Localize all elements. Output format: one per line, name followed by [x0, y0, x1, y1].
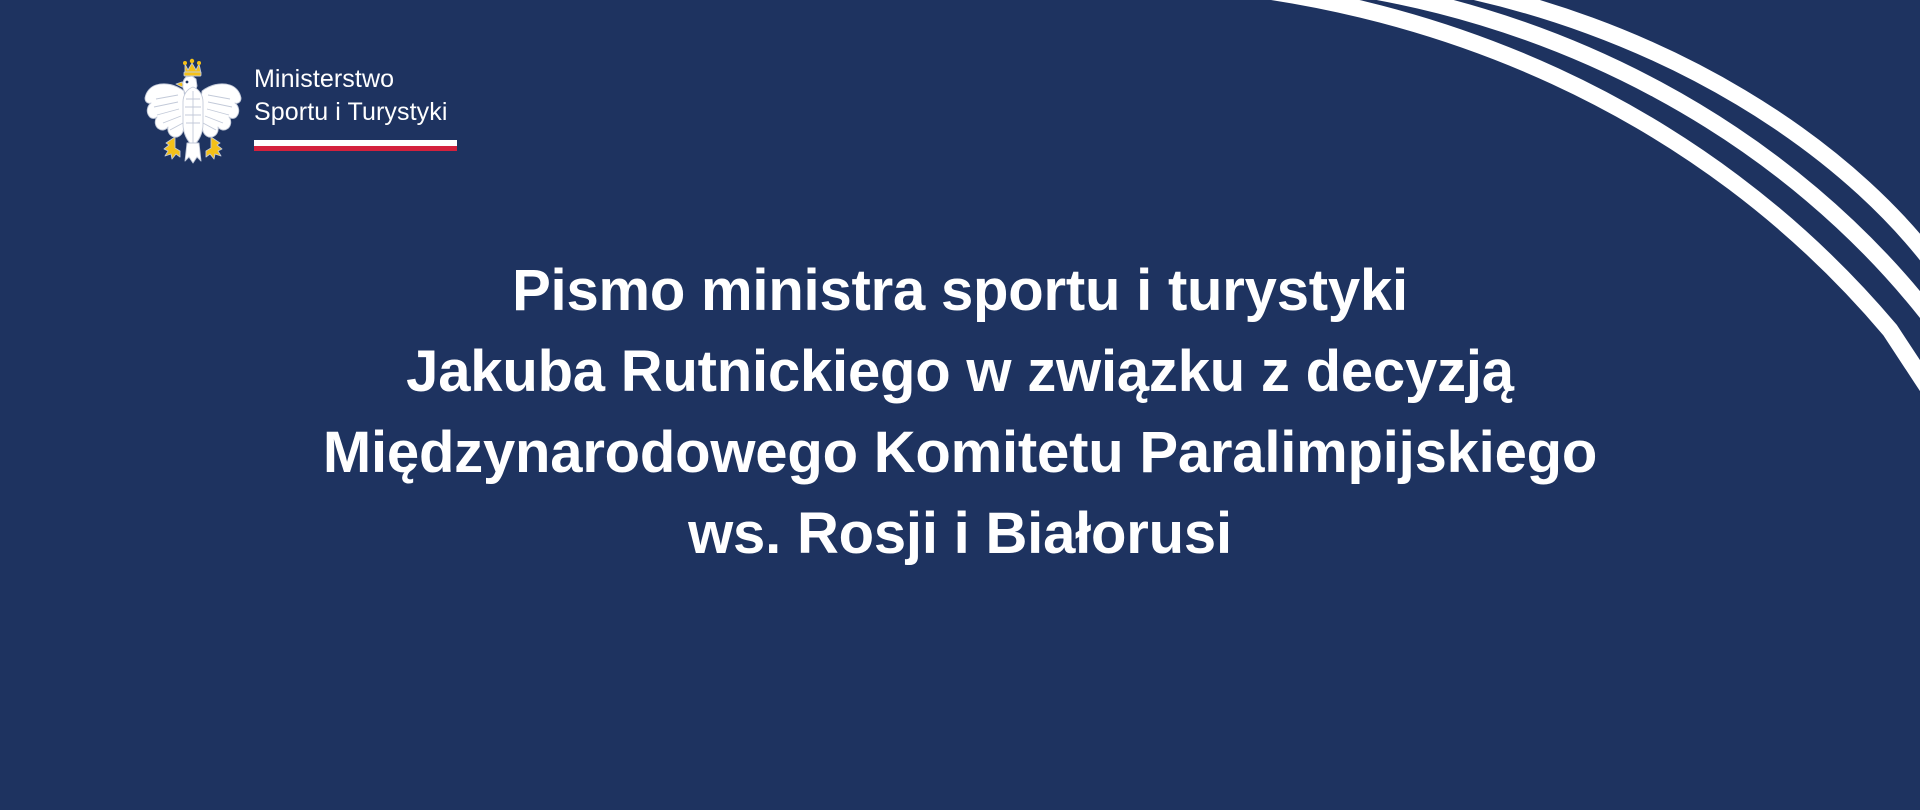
headline-line-3: Międzynarodowego Komitetu Paralimpijskie… [120, 412, 1800, 493]
ministry-logo-text: Ministerstwo Sportu i Turystyki [254, 55, 457, 151]
polish-eagle-emblem-svg [140, 55, 246, 167]
polish-eagle-emblem [140, 55, 246, 167]
polish-flag-bar [254, 140, 457, 151]
flag-bar-red-stripe [254, 146, 457, 152]
headline-line-1: Pismo ministra sportu i turystyki [120, 250, 1800, 331]
arc-inner [1416, 0, 1920, 290]
ministry-logo: Ministerstwo Sportu i Turystyki [140, 55, 457, 167]
headline-line-2: Jakuba Rutnickiego w związku z decyzją [120, 331, 1800, 412]
headline-line-4: ws. Rosji i Białorusi [120, 493, 1800, 574]
page-title: Pismo ministra sportu i turystyki Jakuba… [0, 250, 1920, 574]
ministry-name-line-2: Sportu i Turystyki [254, 96, 457, 129]
ministry-name-line-1: Ministerstwo [254, 63, 457, 96]
